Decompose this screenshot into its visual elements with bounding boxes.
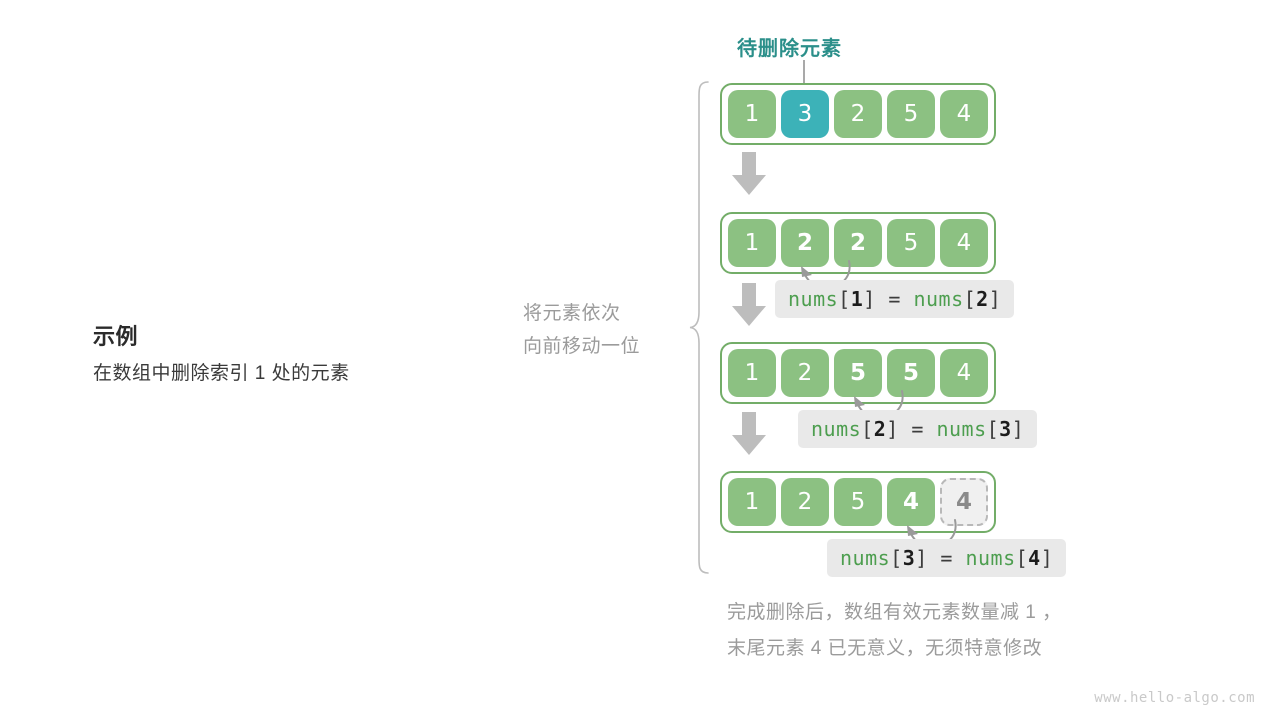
- array-row-step-3: 1 2 5 4 4: [720, 471, 996, 533]
- code-operator: =: [940, 546, 953, 570]
- code-operator: =: [888, 287, 901, 311]
- array-cell[interactable]: 1: [728, 90, 776, 138]
- array-cell-source[interactable]: 2: [834, 219, 882, 267]
- array-cell[interactable]: 4: [940, 219, 988, 267]
- code-identifier: nums: [840, 546, 890, 570]
- code-label: nums[1] = nums[2]: [775, 280, 1014, 318]
- array-cell[interactable]: 1: [728, 478, 776, 526]
- code-src-index: 4: [1028, 546, 1041, 570]
- code-dest-index: 2: [874, 417, 887, 441]
- array-cell-modified[interactable]: 2: [781, 219, 829, 267]
- array-cell[interactable]: 2: [781, 349, 829, 397]
- highlight-label: 待删除元素: [737, 32, 842, 61]
- down-arrow-icon: [731, 152, 767, 196]
- code-operator: =: [911, 417, 924, 441]
- result-caption: 完成删除后，数组有效元素数量减 1 ， 末尾元素 4 已无意义，无须特意修改: [727, 595, 1062, 667]
- grouping-brace: [688, 80, 714, 580]
- code-label: nums[2] = nums[3]: [798, 410, 1037, 448]
- array-cell[interactable]: 2: [781, 478, 829, 526]
- array-cell-modified[interactable]: 4: [887, 478, 935, 526]
- array-row-step-1: 1 2 2 5 4: [720, 212, 996, 274]
- array-cell-highlighted[interactable]: 3: [781, 90, 829, 138]
- array-cell-modified[interactable]: 5: [834, 349, 882, 397]
- array-cell[interactable]: 4: [940, 349, 988, 397]
- down-arrow-icon: [731, 283, 767, 327]
- array-cell[interactable]: 5: [887, 90, 935, 138]
- array-cell-discarded[interactable]: 4: [940, 478, 988, 526]
- diagram-canvas: 示例 在数组中删除索引 1 处的元素 将元素依次 向前移动一位 待删除元素 1 …: [0, 0, 1280, 720]
- code-identifier: nums: [936, 417, 986, 441]
- array-cell[interactable]: 4: [940, 90, 988, 138]
- array-cell[interactable]: 1: [728, 219, 776, 267]
- code-identifier: nums: [965, 546, 1015, 570]
- array-cell[interactable]: 5: [887, 219, 935, 267]
- page-title: 示例: [93, 322, 473, 352]
- code-src-index: 2: [976, 287, 989, 311]
- watermark: www.hello-algo.com: [1094, 690, 1255, 706]
- code-identifier: nums: [913, 287, 963, 311]
- code-identifier: nums: [788, 287, 838, 311]
- result-caption-line2: 末尾元素 4 已无意义，无须特意修改: [727, 631, 1062, 667]
- down-arrow-icon: [731, 412, 767, 456]
- code-src-index: 3: [999, 417, 1012, 441]
- code-label: nums[3] = nums[4]: [827, 539, 1066, 577]
- array-cell[interactable]: 2: [834, 90, 882, 138]
- array-cell-source[interactable]: 5: [887, 349, 935, 397]
- shift-annotation-line1: 将元素依次: [523, 297, 683, 330]
- array-cell[interactable]: 1: [728, 349, 776, 397]
- array-row-step-2: 1 2 5 5 4: [720, 342, 996, 404]
- array-row-initial: 1 3 2 5 4: [720, 83, 996, 145]
- code-dest-index: 3: [903, 546, 916, 570]
- example-text-block: 示例 在数组中删除索引 1 处的元素: [93, 322, 473, 388]
- shift-annotation-line2: 向前移动一位: [523, 330, 683, 363]
- result-caption-line1: 完成删除后，数组有效元素数量减 1 ，: [727, 595, 1062, 631]
- code-dest-index: 1: [851, 287, 864, 311]
- code-identifier: nums: [811, 417, 861, 441]
- array-cell[interactable]: 5: [834, 478, 882, 526]
- shift-annotation: 将元素依次 向前移动一位: [523, 297, 683, 363]
- example-description: 在数组中删除索引 1 处的元素: [93, 360, 473, 388]
